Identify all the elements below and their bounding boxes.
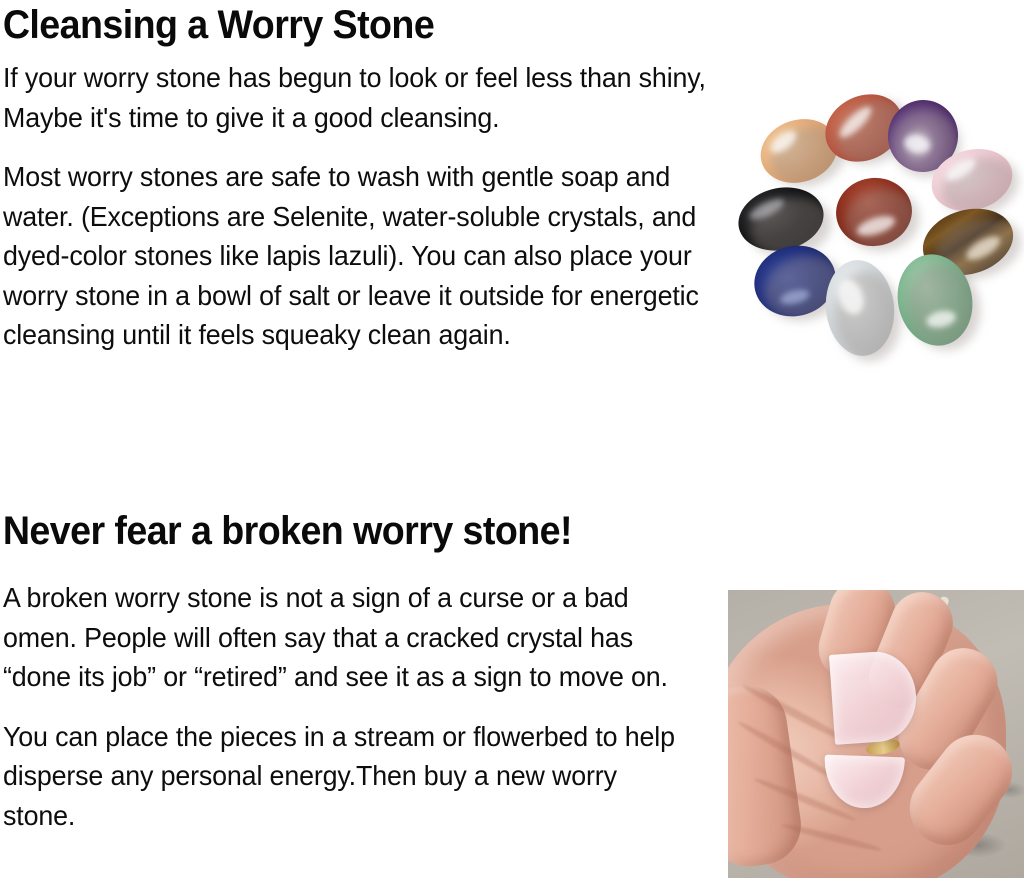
document-page: Cleansing a Worry Stone If your worry st…	[0, 0, 1024, 878]
broken-stone-paragraph-2: You can place the pieces in a stream or …	[3, 717, 686, 836]
cleansing-body-text: If your worry stone has begun to look or…	[3, 58, 729, 355]
broken-stone-body-text: A broken worry stone is not a sign of a …	[3, 578, 703, 835]
section-cleansing: Cleansing a Worry Stone If your worry st…	[0, 0, 1024, 420]
page-title-cleansing: Cleansing a Worry Stone	[0, 0, 963, 48]
broken-stone-paragraph-1: A broken worry stone is not a sign of a …	[3, 578, 686, 697]
cleansing-paragraph-1: If your worry stone has begun to look or…	[3, 58, 711, 137]
page-title-broken-stone: Never fear a broken worry stone!	[0, 500, 963, 554]
worry-stones-assortment-photo	[726, 78, 1024, 378]
broken-rose-quartz-in-hand-photo	[728, 590, 1024, 878]
stone-black-obsidian	[732, 180, 829, 259]
stone-carnelian	[832, 173, 917, 251]
cleansing-paragraph-2: Most worry stones are safe to wash with …	[3, 157, 711, 355]
